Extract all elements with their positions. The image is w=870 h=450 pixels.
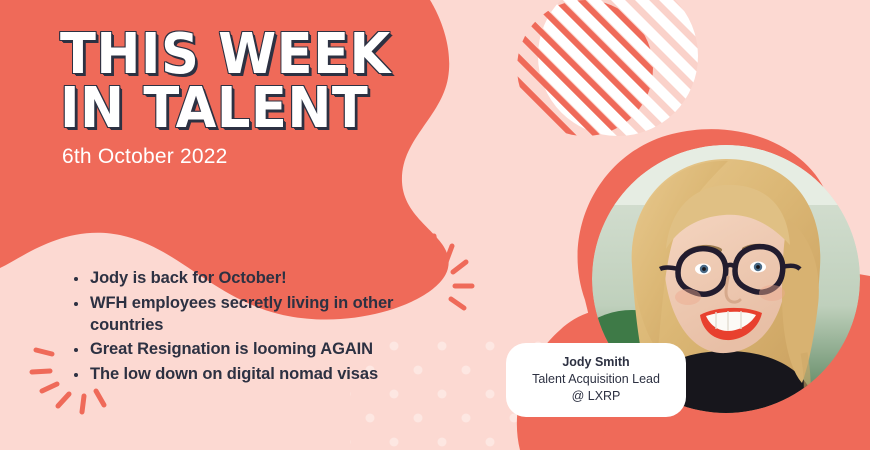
issue-date: 6th October 2022 bbox=[62, 145, 480, 169]
profile-handle: @ LXRP bbox=[516, 388, 676, 405]
profile-name: Jody Smith bbox=[516, 354, 676, 371]
profile-card: Jody Smith Talent Acquisition Lead @ LXR… bbox=[506, 343, 686, 417]
profile-role: Talent Acquisition Lead bbox=[516, 371, 676, 388]
list-item: The low down on digital nomad visas bbox=[90, 364, 450, 386]
page-title: THIS WEEK IN TALENT bbox=[60, 28, 455, 137]
this-week-in-talent-poster: THIS WEEK IN TALENT 6th October 2022 Jod… bbox=[0, 0, 870, 450]
title-block: THIS WEEK IN TALENT 6th October 2022 bbox=[60, 28, 480, 169]
list-item: Jody is back for October! bbox=[90, 268, 450, 290]
striped-circle-coral bbox=[517, 0, 653, 136]
list-item: WFH employees secretly living in other c… bbox=[90, 293, 450, 337]
topic-list: Jody is back for October! WFH employees … bbox=[62, 268, 450, 389]
list-item: Great Resignation is looming AGAIN bbox=[90, 339, 450, 361]
